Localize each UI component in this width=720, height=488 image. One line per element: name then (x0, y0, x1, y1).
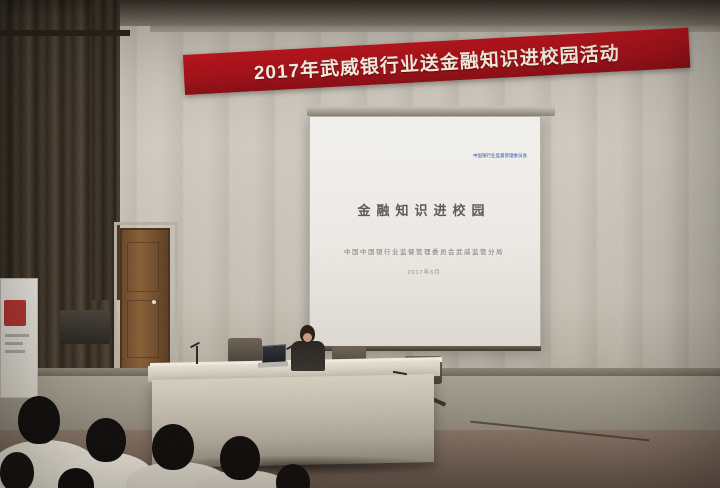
presenter-table-skirt (152, 374, 434, 468)
roll-up-banner-text-line (5, 342, 23, 345)
photo-scene: 中国银行业监督管理委员会 金融知识进校园 中国中国银行业监督管理委员会武威监管分… (0, 0, 720, 488)
curtain-rod (0, 30, 130, 36)
audience-head (0, 452, 34, 488)
roll-up-banner-text-line (5, 334, 29, 337)
slide-date: 2017年6月 (309, 268, 539, 276)
roll-up-banner (0, 278, 38, 398)
microphone-stand (196, 346, 198, 364)
door-panel-lower (127, 300, 159, 358)
audience-head (18, 396, 60, 444)
roll-up-banner-text-line (5, 350, 25, 353)
projection-screen-case (307, 106, 555, 116)
audience-head (220, 436, 260, 480)
audience-head (152, 424, 194, 470)
roll-up-banner-graphic (4, 300, 26, 326)
presenter-face (303, 333, 312, 342)
slide-logo-text: 中国银行业监督管理委员会 (473, 154, 527, 159)
door-knob[interactable] (152, 300, 156, 304)
slide-logo: 中国银行业监督管理委员会 (470, 148, 520, 164)
audience-head (86, 418, 126, 462)
door-panel-upper (127, 242, 159, 292)
slide-title: 金融知识进校园 (309, 200, 539, 219)
slide-subtitle: 中国中国银行业监督管理委员会武威监管分局 (309, 246, 539, 256)
microphone-stand (291, 348, 293, 364)
presenter-body (291, 341, 325, 371)
loudspeaker-box (60, 310, 110, 344)
